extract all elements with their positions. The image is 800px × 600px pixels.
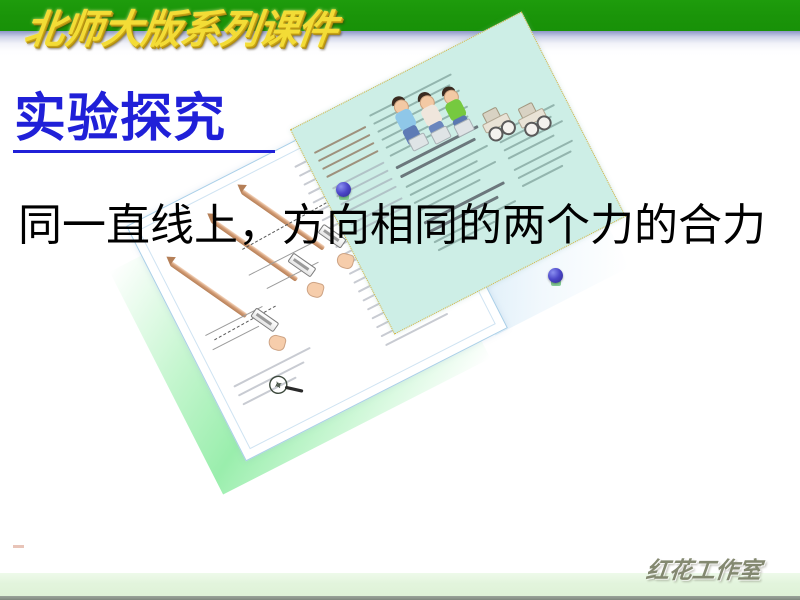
slide-canvas: 北师大版系列课件 实验探究 同一直线上，方向相同的两个力的合力 xyxy=(0,0,800,600)
footer-watermark: 红花工作室 xyxy=(644,556,797,588)
pushpin-icon-left xyxy=(336,182,353,199)
footer-rule xyxy=(0,596,800,600)
stray-mark xyxy=(13,545,24,548)
page-title-underline xyxy=(13,150,275,153)
pushpin-head-right xyxy=(548,268,563,283)
pushpin-head-left xyxy=(336,182,351,197)
page-subtitle: 同一直线上，方向相同的两个力的合力 xyxy=(18,198,766,254)
pushpin-icon-right xyxy=(548,268,565,285)
page-title: 实验探究 xyxy=(14,88,226,150)
banner-logo-text: 北师大版系列课件 xyxy=(21,5,358,59)
